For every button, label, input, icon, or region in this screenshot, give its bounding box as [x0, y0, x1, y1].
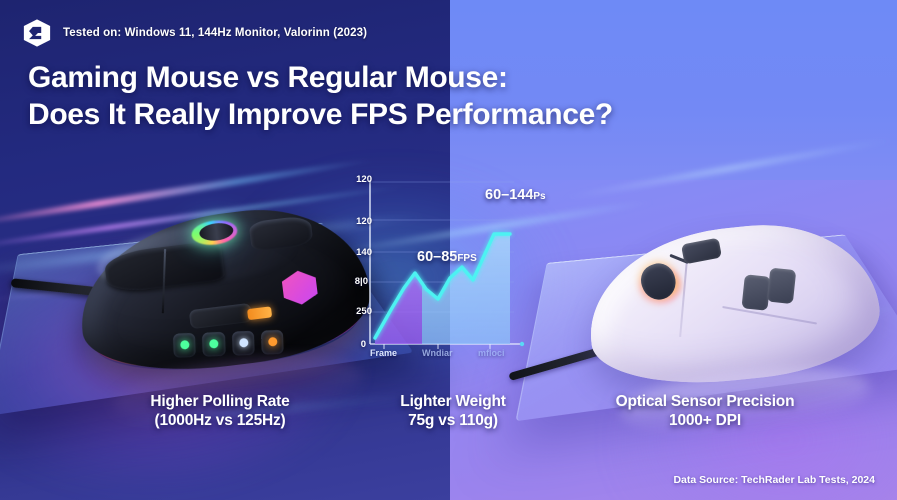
- led-button: [231, 331, 254, 356]
- caption-title: Optical Sensor Precision: [540, 392, 870, 411]
- regular-mouse-image: [579, 197, 886, 406]
- caption-title: Higher Polling Rate: [60, 392, 380, 411]
- side-button: [767, 268, 796, 305]
- page-title: Gaming Mouse vs Regular Mouse: Does It R…: [28, 60, 668, 134]
- annotation-unit: FPS: [457, 253, 476, 264]
- mouse-shell: [581, 213, 885, 394]
- header-bar: Tested on: Windows 11, 144Hz Monitor, Va…: [22, 18, 367, 48]
- data-source-note: Data Source: TechRader Lab Tests, 2024: [673, 474, 875, 486]
- chart-annotation-low: 60–85FPS: [417, 249, 477, 265]
- chart-annotation-high: 60–144Ps: [485, 187, 546, 203]
- benefit-caption-weight: Lighter Weight 75g vs 110g): [350, 392, 556, 432]
- annotation-range: 60–85: [417, 249, 457, 265]
- y-axis-tick: 120: [356, 216, 372, 227]
- y-axis-tick: 8|0: [355, 276, 368, 287]
- led-button: [261, 330, 284, 355]
- tested-on-text: Tested on: Windows 11, 144Hz Monitor, Va…: [63, 27, 367, 39]
- x-axis-tick: mfloci: [478, 348, 505, 358]
- caption-title: Lighter Weight: [350, 392, 556, 411]
- side-button: [741, 274, 770, 311]
- title-line-2: Does It Really Improve FPS Performance?: [28, 97, 668, 134]
- x-axis-tick: Wndiar: [422, 348, 453, 358]
- y-axis-tick: 120: [356, 174, 372, 185]
- y-axis-tick: 140: [356, 247, 372, 258]
- led-button: [173, 333, 196, 358]
- caption-subtitle: 75g vs 110g): [350, 411, 556, 431]
- x-axis-endpoint-dot: [520, 342, 524, 346]
- x-axis-tick: Frame: [370, 348, 397, 358]
- gamer-shield-logo-icon: [22, 18, 52, 48]
- caption-subtitle: 1000+ DPI: [540, 411, 870, 431]
- benefit-caption-sensor: Optical Sensor Precision 1000+ DPI: [540, 392, 870, 432]
- benefit-caption-polling-rate: Higher Polling Rate (1000Hz vs 125Hz): [60, 392, 380, 432]
- caption-subtitle: (1000Hz vs 125Hz): [60, 411, 380, 431]
- fps-area-chart: 120 120 140 8|0 250 0: [338, 172, 558, 362]
- gaming-mouse-image: [68, 179, 378, 393]
- infographic-poster: Tested on: Windows 11, 144Hz Monitor, Va…: [0, 0, 897, 500]
- led-button: [202, 332, 225, 357]
- y-axis-tick: 250: [356, 306, 372, 317]
- title-line-1: Gaming Mouse vs Regular Mouse:: [28, 60, 668, 97]
- annotation-range: 60–144: [485, 187, 533, 203]
- y-axis-tick: 0: [361, 339, 366, 350]
- annotation-unit: Ps: [533, 191, 545, 202]
